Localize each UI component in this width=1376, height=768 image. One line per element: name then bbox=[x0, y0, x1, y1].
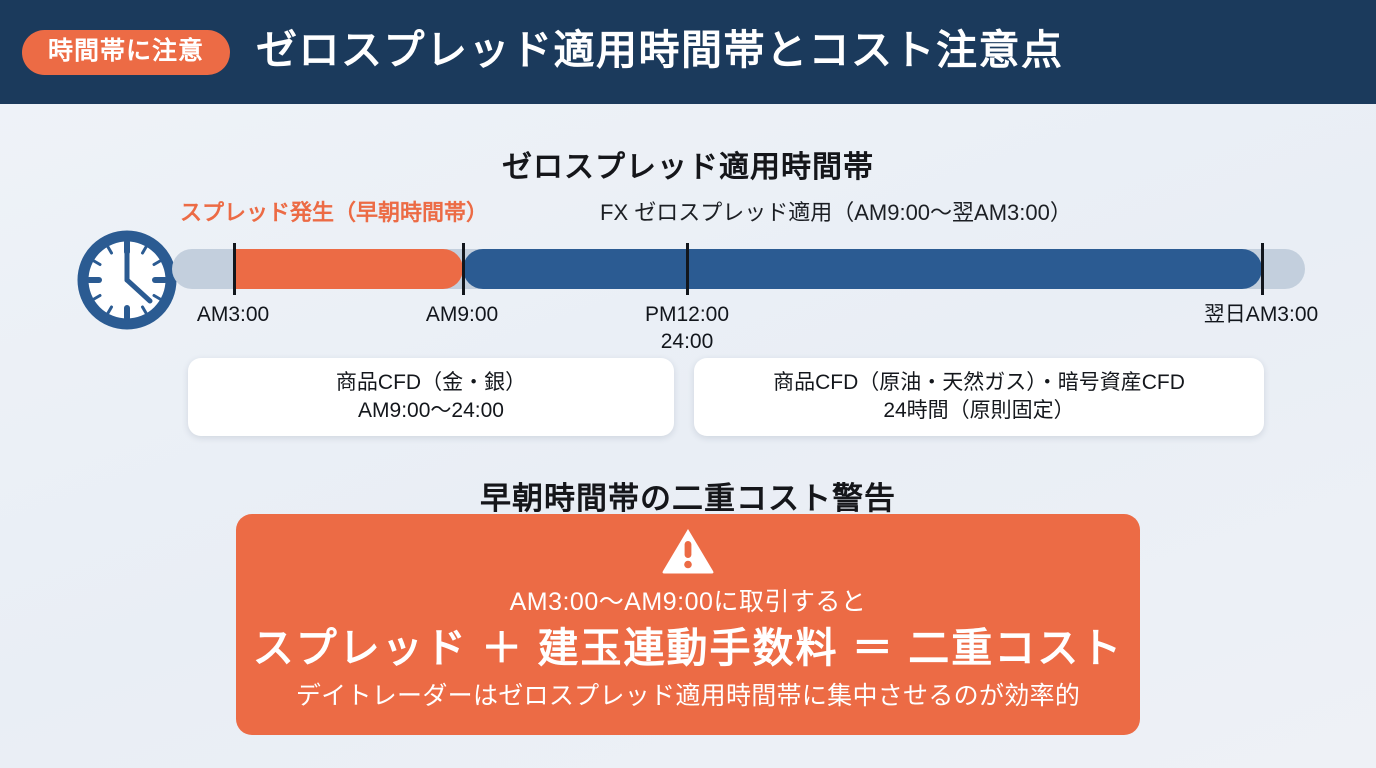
tick-mark-next-am3 bbox=[1261, 243, 1264, 295]
info-card-metals-line1: 商品CFD（金・銀） bbox=[336, 369, 526, 397]
info-card-metals: 商品CFD（金・銀） AM9:00〜24:00 bbox=[188, 358, 674, 436]
tick-label-pm12-line1: PM12:00 bbox=[587, 301, 787, 328]
tick-label-am9: AM9:00 bbox=[362, 301, 562, 328]
warning-main-formula: スプレッド ＋ 建玉連動手数料 ＝ 二重コスト bbox=[253, 628, 1124, 669]
tick-mark-pm12 bbox=[686, 243, 689, 295]
legend-spread-label: スプレッド発生（早朝時間帯） bbox=[180, 202, 488, 224]
warning-footer-advice: デイトレーダーはゼロスプレッド適用時間帯に集中させるのが効率的 bbox=[296, 684, 1080, 709]
warning-subtext: AM3:00〜AM9:00に取引すると bbox=[510, 590, 867, 615]
timeline-segment-zero-spread bbox=[463, 249, 1262, 289]
timeline-segment-spread bbox=[234, 249, 463, 289]
header-bar: 時間帯に注意 ゼロスプレッド適用時間帯とコスト注意点 bbox=[0, 0, 1376, 104]
infographic-page: 時間帯に注意 ゼロスプレッド適用時間帯とコスト注意点 ゼロスプレッド適用時間帯 … bbox=[0, 0, 1376, 768]
warning-triangle-icon bbox=[661, 527, 715, 580]
warning-panel: AM3:00〜AM9:00に取引すると スプレッド ＋ 建玉連動手数料 ＝ 二重… bbox=[236, 514, 1140, 735]
timeline-section-heading: ゼロスプレッド適用時間帯 bbox=[0, 142, 1376, 186]
timeline-bar bbox=[172, 249, 1305, 289]
tick-label-next-am3: 翌日AM3:00 bbox=[1161, 301, 1361, 328]
warning-section-heading: 早朝時間帯の二重コスト警告 bbox=[0, 473, 1376, 518]
tick-mark-am3 bbox=[233, 243, 236, 295]
page-title: ゼロスプレッド適用時間帯とコスト注意点 bbox=[256, 30, 1064, 75]
tick-mark-am9 bbox=[462, 243, 465, 295]
header-badge: 時間帯に注意 bbox=[22, 30, 230, 75]
info-card-energy-crypto-line1: 商品CFD（原油・天然ガス）・暗号資産CFD bbox=[773, 369, 1185, 397]
info-card-metals-line2: AM9:00〜24:00 bbox=[358, 397, 504, 425]
info-card-energy-crypto: 商品CFD（原油・天然ガス）・暗号資産CFD 24時間（原則固定） bbox=[694, 358, 1264, 436]
info-card-energy-crypto-line2: 24時間（原則固定） bbox=[883, 397, 1074, 425]
tick-label-pm12-line2: 24:00 bbox=[587, 328, 787, 355]
legend-zero-spread-label: FX ゼロスプレッド適用（AM9:00〜翌AM3:00） bbox=[600, 202, 1072, 224]
tick-label-am3: AM3:00 bbox=[133, 301, 333, 328]
tick-label-pm12: PM12:00 24:00 bbox=[587, 301, 787, 356]
